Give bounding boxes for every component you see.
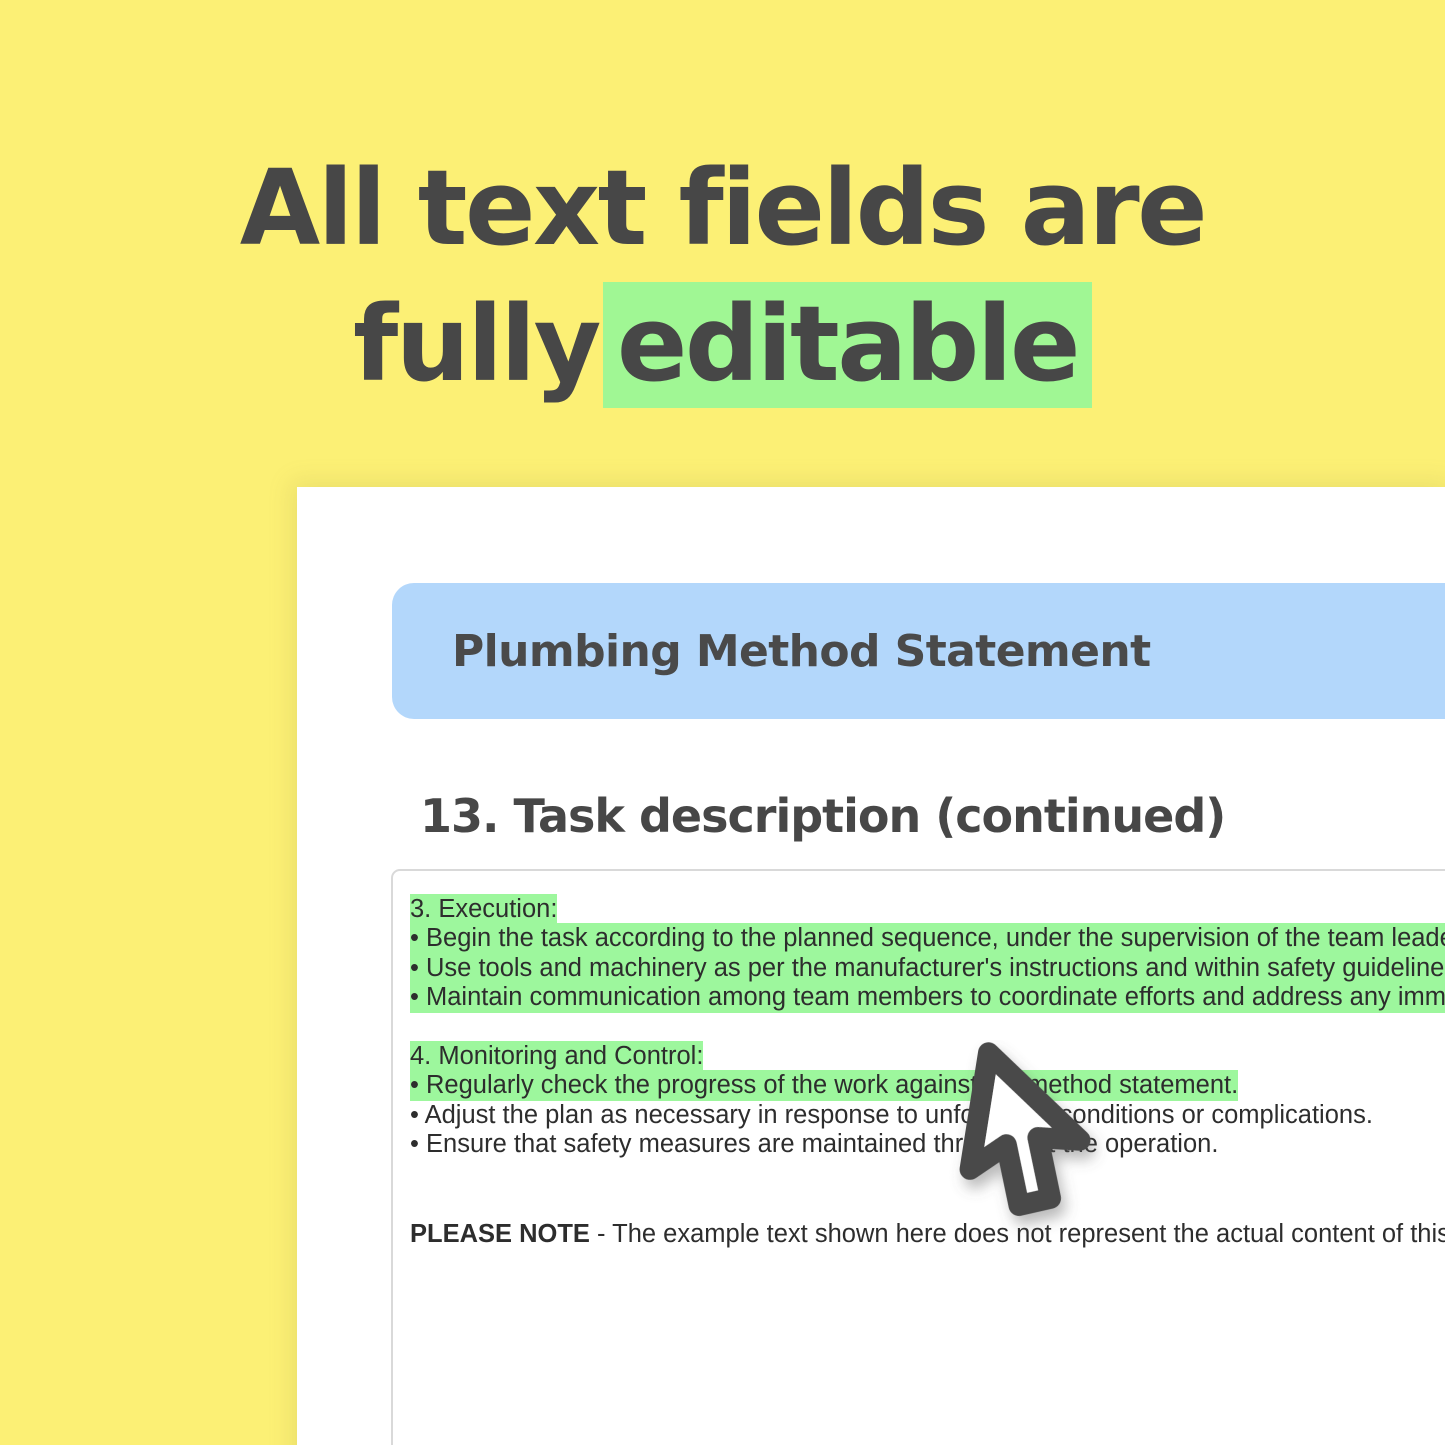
text-line-run: 4. Monitoring and Control: [410,1041,703,1072]
promo-headline: All text fields are fullyeditable [0,140,1445,412]
text-line-run: • Regularly check the progress of the wo… [410,1070,1238,1101]
text-line-run: • Adjust the plan as necessary in respon… [410,1101,1373,1129]
text-line-run: • Begin the task according to the planne… [410,923,1445,954]
text-line: 4. Monitoring and Control: [410,1042,1445,1071]
section-heading: 13. Task description (continued) [420,789,1225,843]
blank-line [410,1013,1445,1042]
headline-highlighted-word: editable [603,282,1092,408]
text-line: • Begin the task according to the planne… [410,924,1445,953]
text-line: 3. Execution: [410,895,1445,924]
text-field-content[interactable]: 3. Execution: • Begin the task according… [410,895,1445,1251]
promo-canvas: All text fields are fullyeditable Plumbi… [0,0,1445,1445]
task-description-text-field[interactable]: 3. Execution: • Begin the task according… [391,869,1445,1445]
text-line: • Use tools and machinery as per the man… [410,954,1445,983]
text-line-run: 3. Execution: [410,894,557,925]
document-title[interactable]: Plumbing Method Statement [452,583,1151,719]
text-line: • Regularly check the progress of the wo… [410,1071,1445,1100]
please-note-text: - The example text shown here does not r… [590,1220,1445,1248]
please-note-label: PLEASE NOTE [410,1220,590,1248]
please-note-block: PLEASE NOTE - The example text shown her… [410,1218,1340,1251]
text-line-run: • Use tools and machinery as per the man… [410,953,1445,984]
text-line: • Adjust the plan as necessary in respon… [410,1101,1445,1130]
text-line: • Maintain communication among team memb… [410,983,1445,1012]
headline-plain-word: fully [353,283,599,405]
text-line-run: • Maintain communication among team memb… [410,982,1445,1013]
headline-line-2: fullyeditable [0,276,1445,412]
text-line: • Ensure that safety measures are mainta… [410,1130,1445,1159]
headline-line-1: All text fields are [0,140,1445,276]
text-line-run: • Ensure that safety measures are mainta… [410,1130,1218,1158]
